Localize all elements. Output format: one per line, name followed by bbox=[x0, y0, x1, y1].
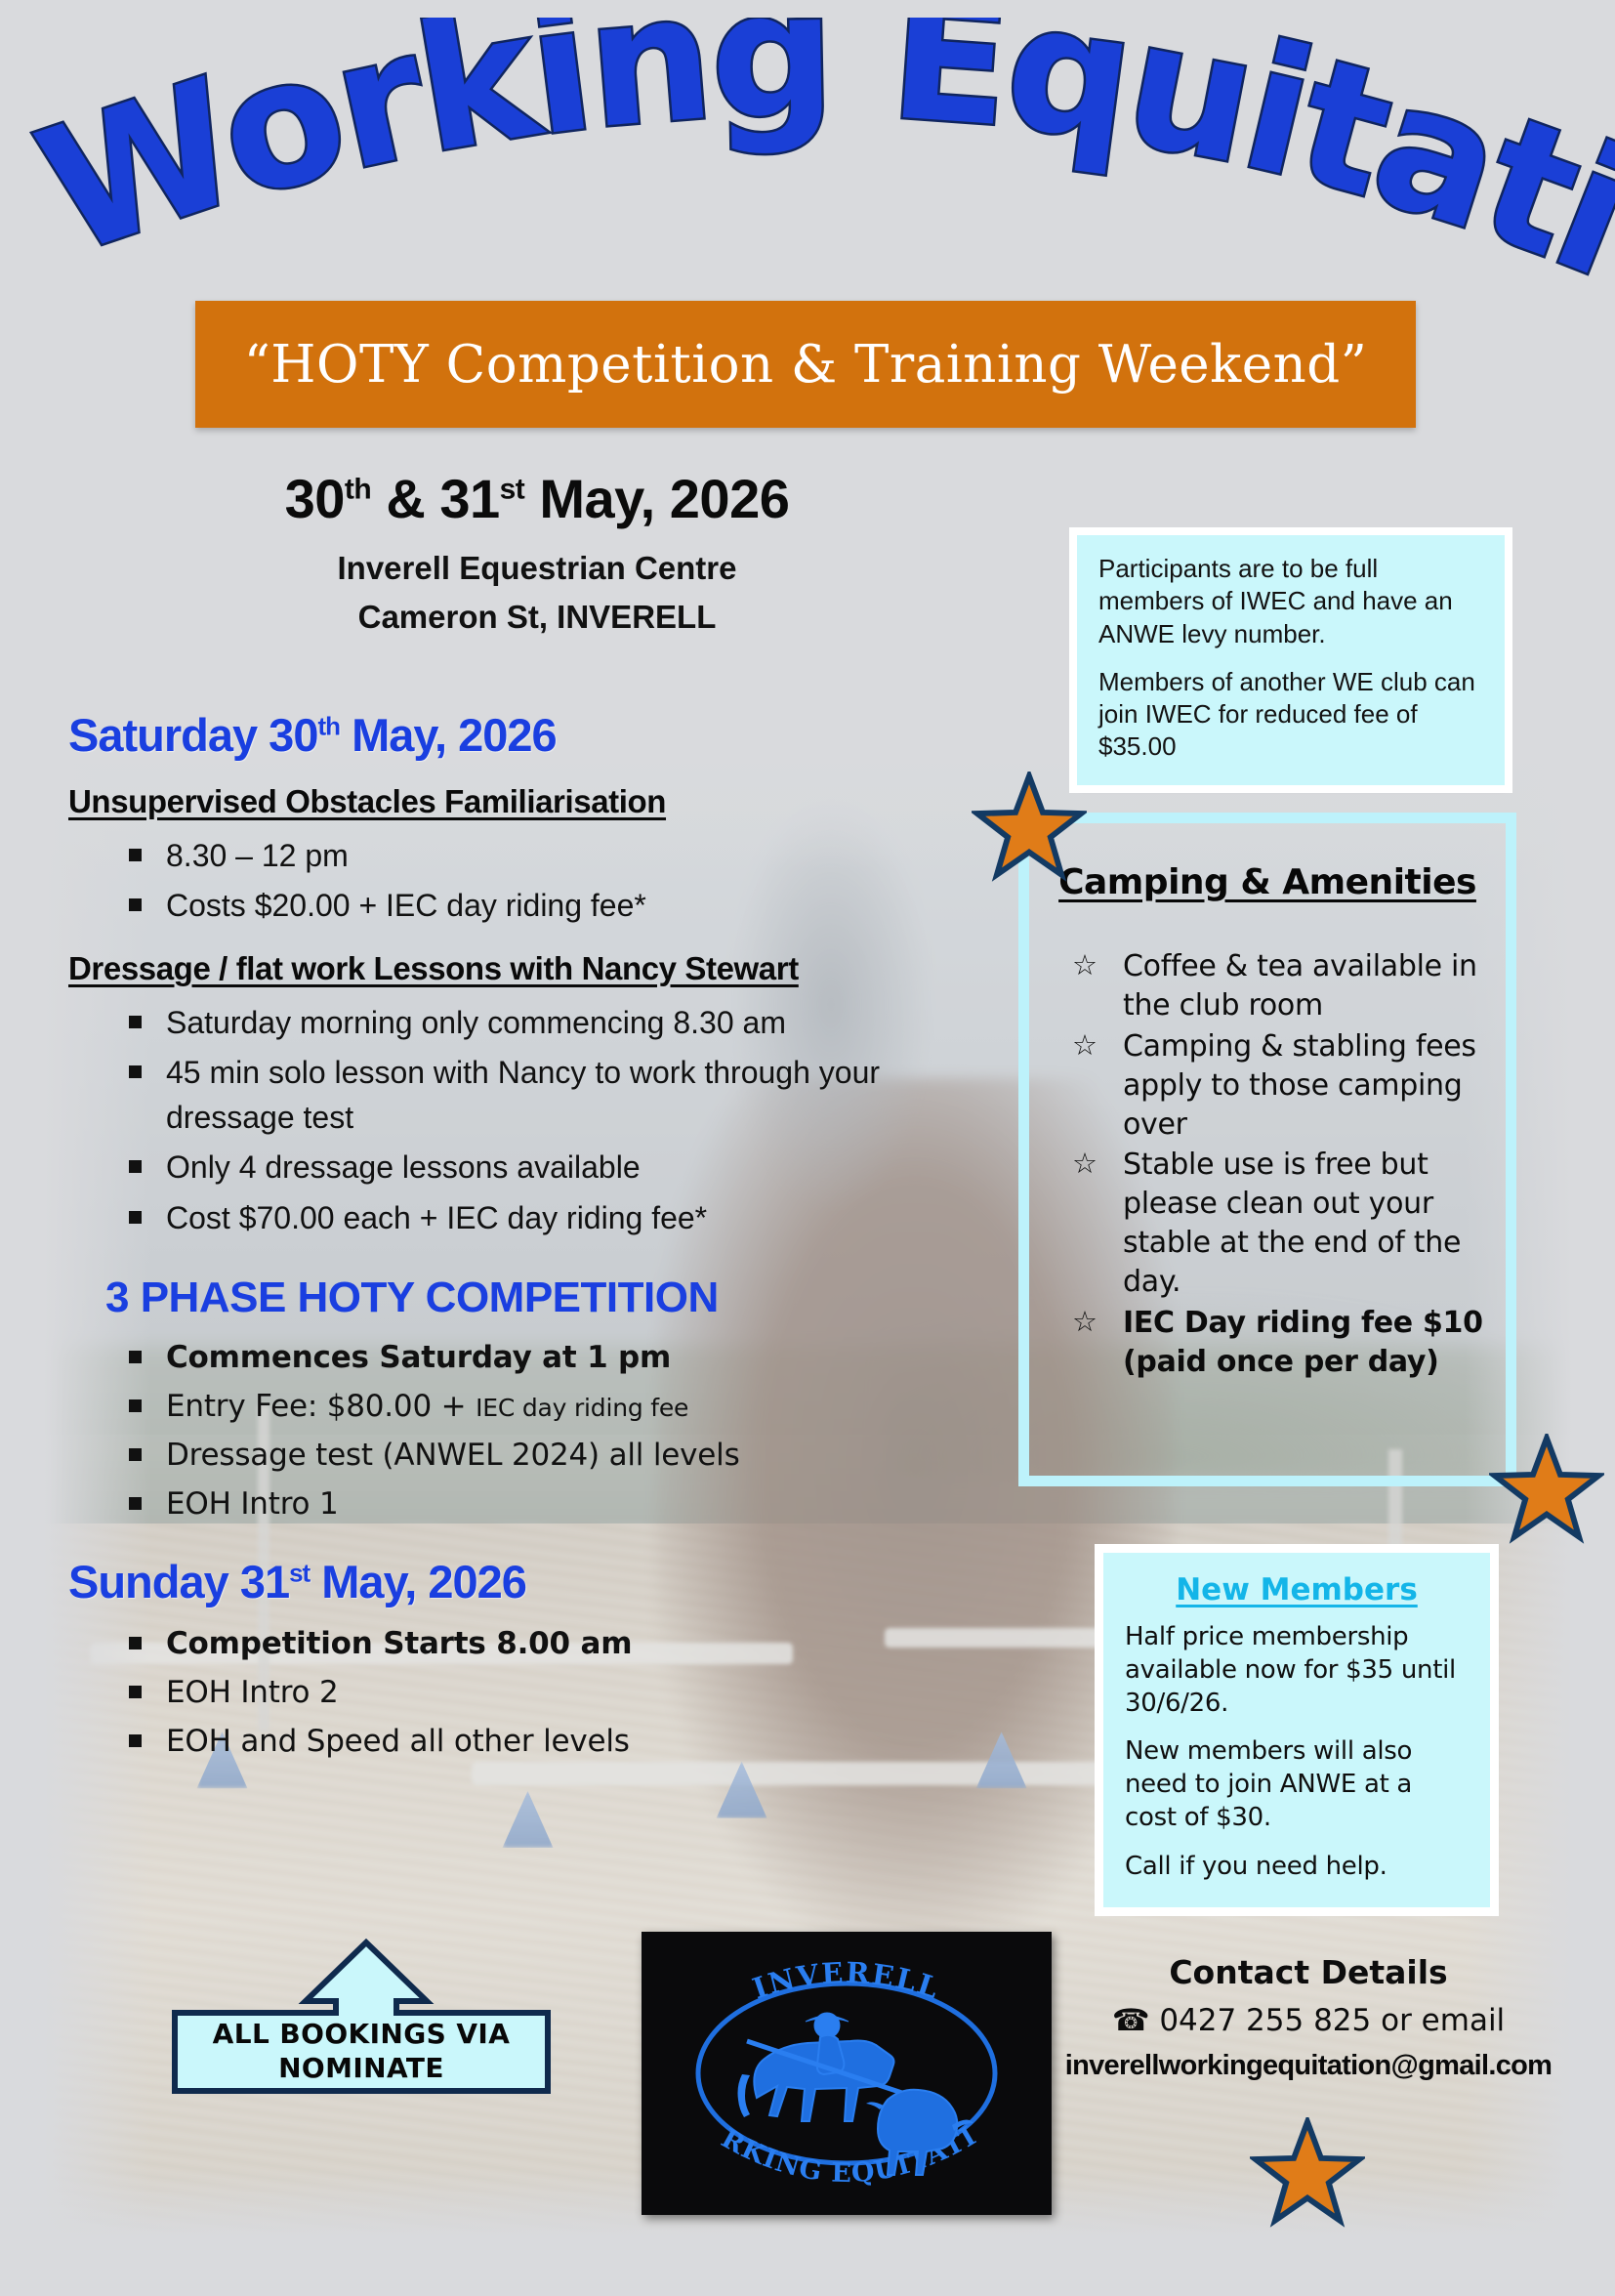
event-date-day1: 30 bbox=[285, 468, 345, 529]
sunday-heading-suffix: st bbox=[289, 1558, 310, 1587]
list-item: 8.30 – 12 pm bbox=[123, 834, 947, 878]
bookings-callout: ALL BOOKINGS VIA NOMINATE bbox=[171, 1939, 552, 2095]
sunday-heading: Sunday 31st May, 2026 bbox=[68, 1555, 947, 1608]
telephone-icon: ☎ bbox=[1112, 2003, 1150, 2038]
list-item: Entry Fee: $80.00 + IEC day riding fee bbox=[123, 1385, 947, 1428]
flyer-page: Inverell Working Equitation Club Inverel… bbox=[0, 0, 1615, 2296]
list-item: Camping & stabling fees apply to those c… bbox=[1072, 1027, 1490, 1145]
contact-title: Contact Details bbox=[1035, 1953, 1582, 1991]
list-item: Commences Saturday at 1 pm bbox=[123, 1336, 947, 1379]
sunday-heading-prefix: Sunday 31 bbox=[68, 1556, 289, 1607]
star-icon bbox=[972, 772, 1087, 887]
entry-fee-main: Entry Fee: $80.00 + bbox=[166, 1389, 476, 1424]
bookings-line-1: ALL BOOKINGS VIA bbox=[171, 2017, 552, 2051]
dressage-section-title: Dressage / flat work Lessons with Nancy … bbox=[68, 950, 947, 987]
participants-note-line-1: Participants are to be full members of I… bbox=[1098, 553, 1485, 650]
list-item: Costs $20.00 + IEC day riding fee* bbox=[123, 884, 947, 928]
list-item: 45 min solo lesson with Nancy to work th… bbox=[123, 1051, 947, 1140]
list-item: EOH Intro 1 bbox=[123, 1482, 947, 1525]
star-icon bbox=[1250, 2117, 1365, 2233]
club-logo-patch: INVERELL WORKING EQUITATION bbox=[642, 1932, 1052, 2215]
saturday-heading: Saturday 30th May, 2026 bbox=[68, 708, 947, 762]
bookings-line-2: NOMINATE bbox=[171, 2051, 552, 2085]
club-title: Inverell Working Equitation Club Inverel… bbox=[0, 18, 1615, 301]
competition-list: Commences Saturday at 1 pm Entry Fee: $8… bbox=[68, 1336, 947, 1525]
contact-email[interactable]: inverellworkingequitation@gmail.com bbox=[1035, 2050, 1582, 2082]
participants-note-box: Participants are to be full members of I… bbox=[1077, 535, 1505, 785]
new-members-line-3: Call if you need help. bbox=[1125, 1851, 1469, 1884]
list-item: Dressage test (ANWEL 2024) all levels bbox=[123, 1434, 947, 1477]
competition-heading: 3 PHASE HOTY COMPETITION bbox=[105, 1273, 947, 1322]
venue-name: Inverell Equestrian Centre bbox=[0, 550, 1074, 587]
event-date-block: 30th & 31st May, 2026 Inverell Equestria… bbox=[0, 467, 1074, 636]
saturday-heading-prefix: Saturday 30 bbox=[68, 709, 317, 761]
new-members-line-1: Half price membership available now for … bbox=[1125, 1621, 1469, 1720]
svg-text:Inverell Working Equitation Cl: Inverell Working Equitation Club bbox=[0, 18, 1615, 301]
contact-phone-number: 0427 255 825 or email bbox=[1159, 2003, 1505, 2038]
dressage-list: Saturday morning only commencing 8.30 am… bbox=[68, 1001, 947, 1240]
obstacles-list: 8.30 – 12 pm Costs $20.00 + IEC day ridi… bbox=[68, 834, 947, 929]
event-banner: “HOTY Competition & Training Weekend” bbox=[195, 301, 1416, 428]
venue-address: Cameron St, INVERELL bbox=[0, 599, 1074, 636]
club-title-text: Inverell Working Equitation Club bbox=[0, 18, 1615, 301]
sunday-list: Competition Starts 8.00 am EOH Intro 2 E… bbox=[68, 1622, 947, 1763]
saturday-heading-suffix: th bbox=[317, 711, 340, 740]
list-item: IEC Day riding fee $10 (paid once per da… bbox=[1072, 1304, 1490, 1382]
sunday-heading-tail: May, 2026 bbox=[310, 1556, 526, 1607]
logo-top-text: INVERELL bbox=[749, 1956, 945, 2006]
event-date-day2: 31 bbox=[439, 468, 499, 529]
event-date-join: & bbox=[386, 468, 425, 529]
contact-details: Contact Details ☎ 0427 255 825 or email … bbox=[1035, 1953, 1582, 2082]
event-date-day1-suffix: th bbox=[345, 473, 371, 505]
new-members-line-2: New members will also need to join ANWE … bbox=[1125, 1735, 1469, 1834]
camping-title: Camping & Amenities bbox=[1029, 862, 1506, 902]
list-item: EOH Intro 2 bbox=[123, 1671, 947, 1714]
star-icon bbox=[1489, 1434, 1604, 1549]
list-item: Stable use is free but please clean out … bbox=[1072, 1146, 1490, 1302]
participants-note-line-2: Members of another WE club can join IWEC… bbox=[1098, 666, 1485, 764]
event-date-tail: May, 2026 bbox=[539, 468, 789, 529]
new-members-box: New Members Half price membership availa… bbox=[1103, 1553, 1490, 1907]
event-date: 30th & 31st May, 2026 bbox=[0, 467, 1074, 530]
bookings-label: ALL BOOKINGS VIA NOMINATE bbox=[171, 2017, 552, 2085]
event-banner-text: “HOTY Competition & Training Weekend” bbox=[244, 335, 1368, 395]
list-item: Cost $70.00 each + IEC day riding fee* bbox=[123, 1196, 947, 1240]
list-item: EOH and Speed all other levels bbox=[123, 1720, 947, 1763]
list-item: Saturday morning only commencing 8.30 am bbox=[123, 1001, 947, 1045]
list-item: Only 4 dressage lessons available bbox=[123, 1146, 947, 1190]
list-item: Competition Starts 8.00 am bbox=[123, 1622, 947, 1665]
obstacles-section-title: Unsupervised Obstacles Familiarisation bbox=[68, 783, 947, 820]
camping-list: Coffee & tea available in the club room … bbox=[1029, 947, 1506, 1382]
contact-phone-row: ☎ 0427 255 825 or email bbox=[1035, 2003, 1582, 2038]
camping-amenities-box: Camping & Amenities Coffee & tea availab… bbox=[1018, 813, 1516, 1486]
new-members-title: New Members bbox=[1125, 1572, 1469, 1607]
event-date-day2-suffix: st bbox=[500, 473, 525, 505]
entry-fee-note: IEC day riding fee bbox=[476, 1394, 688, 1422]
saturday-heading-tail: May, 2026 bbox=[340, 709, 557, 761]
svg-text:INVERELL: INVERELL bbox=[749, 1956, 945, 2006]
list-item: Coffee & tea available in the club room bbox=[1072, 947, 1490, 1025]
schedule-column: Saturday 30th May, 2026 Unsupervised Obs… bbox=[68, 708, 947, 1769]
